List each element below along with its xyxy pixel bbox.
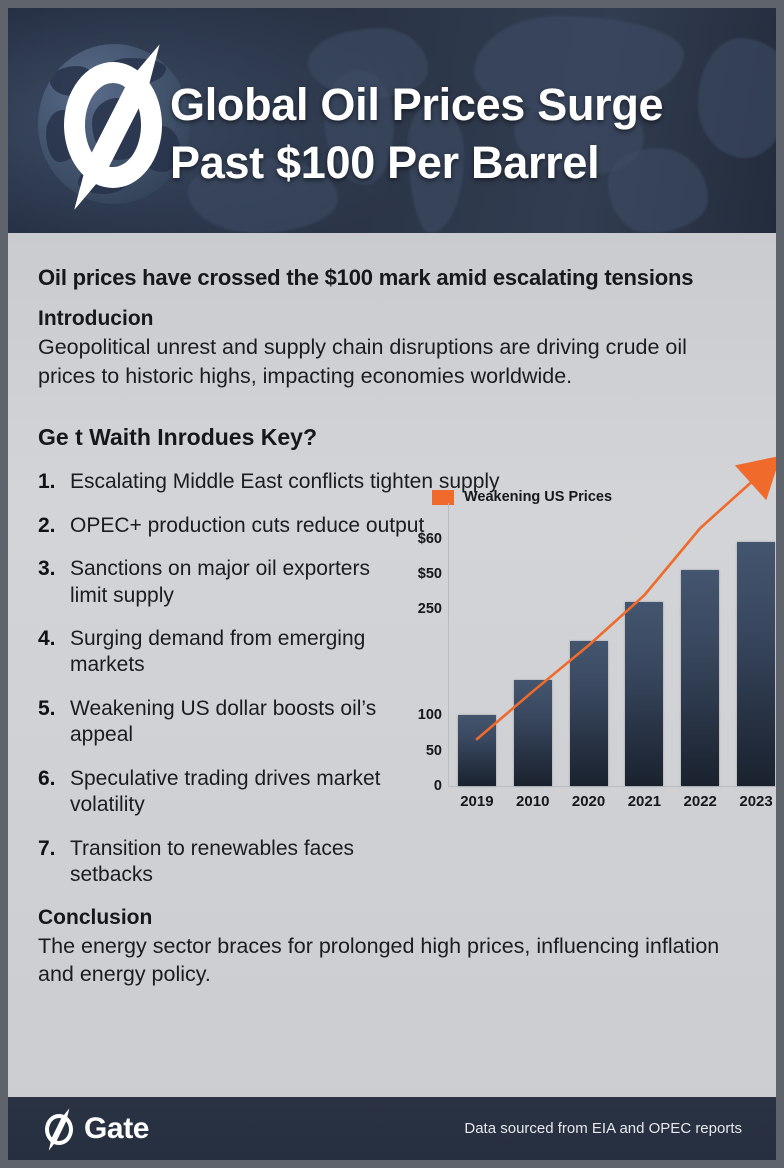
chart-bar: [458, 715, 496, 786]
poster-footer: Gate Data sourced from EIA and OPEC repo…: [8, 1097, 776, 1160]
chart-bar: [737, 542, 775, 786]
chart-bar-group: 2021: [625, 503, 663, 786]
list-item-label: Surging demand from emerging markets: [70, 626, 390, 679]
gate-logo-icon: [56, 50, 174, 200]
conclusion-text: The energy sector braces for prolonged h…: [38, 932, 746, 989]
data-source-note: Data sourced from EIA and OPEC reports: [464, 1120, 742, 1137]
key-points-list: 1. Escalating Middle East conflicts tigh…: [38, 469, 390, 888]
key-points-heading: Ge t Waith Inrodues Key?: [38, 424, 746, 451]
y-axis-tick-label: $50: [418, 566, 442, 582]
list-item-number: 4.: [38, 626, 60, 679]
y-axis-tick-label: 0: [434, 778, 442, 794]
list-item: 3. Sanctions on major oil exporters limi…: [38, 556, 390, 609]
chart-bar: [681, 570, 719, 786]
x-axis-tick-label: 2010: [516, 793, 549, 810]
x-axis-tick-label: 2021: [628, 793, 661, 810]
chart-bar-group: 2023: [737, 503, 775, 786]
list-item-label: Sanctions on major oil exporters limit s…: [70, 556, 390, 609]
list-item-number: 6.: [38, 766, 60, 819]
y-axis-tick-label: $60: [418, 531, 442, 547]
list-item: 4. Surging demand from emerging markets: [38, 626, 390, 679]
page-title: Global Oil Prices Surge Past $100 Per Ba…: [170, 76, 770, 191]
list-item: 5. Weakening US dollar boosts oil’s appe…: [38, 696, 390, 749]
list-item-number: 3.: [38, 556, 60, 609]
brand-name: Gate: [84, 1112, 149, 1146]
x-axis-tick-label: 2022: [684, 793, 717, 810]
intro-text: Geopolitical unrest and supply chain dis…: [38, 333, 746, 390]
page-title-line2: Past $100 Per Barrel: [170, 134, 770, 192]
y-axis-tick-label: 50: [426, 743, 442, 759]
list-item-label: Weakening US dollar boosts oil’s appeal: [70, 696, 390, 749]
chart-bars: 201920102020202120222023: [449, 503, 784, 786]
poster-body: Oil prices have crossed the $100 mark am…: [8, 233, 776, 1113]
y-axis-tick-label: 250: [418, 601, 442, 617]
list-item-label: Speculative trading drives market volati…: [70, 766, 390, 819]
list-item-number: 7.: [38, 836, 60, 889]
list-item-number: 1.: [38, 469, 60, 495]
chart-bar: [570, 641, 608, 786]
infographic-poster: Global Oil Prices Surge Past $100 Per Ba…: [0, 0, 784, 1168]
x-axis-tick-label: 2020: [572, 793, 605, 810]
list-item-number: 5.: [38, 696, 60, 749]
poster-header: Global Oil Prices Surge Past $100 Per Ba…: [8, 8, 776, 233]
chart-bar-group: 2019: [458, 503, 496, 786]
points-and-chart-row: 1. Escalating Middle East conflicts tigh…: [38, 469, 746, 888]
chart-bar-group: 2020: [570, 503, 608, 786]
chart-plot-area: 050100250$50$60 201920102020202120222023: [448, 503, 784, 787]
list-item: 6. Speculative trading drives market vol…: [38, 766, 390, 819]
chart-bar-group: 2010: [514, 503, 552, 786]
y-axis-tick-label: 100: [418, 707, 442, 723]
chart-bar: [514, 680, 552, 786]
chart-bar: [625, 602, 663, 786]
page-title-line1: Global Oil Prices Surge: [170, 79, 663, 130]
list-item-label: OPEC+ production cuts reduce output: [70, 513, 424, 539]
x-axis-tick-label: 2023: [739, 793, 772, 810]
gate-logo-icon: [42, 1109, 76, 1149]
chart-bar-group: 2022: [681, 503, 719, 786]
list-item-label: Transition to renewables faces setbacks: [70, 836, 390, 889]
list-item-number: 2.: [38, 513, 60, 539]
brand-block: Gate: [42, 1109, 149, 1149]
conclusion-heading: Conclusion: [38, 906, 746, 930]
intro-heading: Introducion: [38, 307, 746, 331]
oil-price-bar-chart: Weakening US Prices 050100250$50$60 2019…: [400, 473, 784, 823]
x-axis-tick-label: 2019: [460, 793, 493, 810]
lede-text: Oil prices have crossed the $100 mark am…: [38, 233, 746, 291]
list-item: 7. Transition to renewables faces setbac…: [38, 836, 390, 889]
